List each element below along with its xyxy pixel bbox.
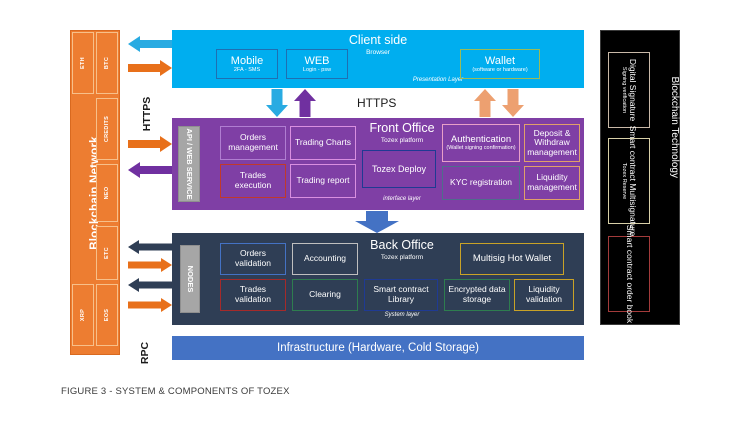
card-smart-contract-multisignature-label: Smart contract Multisignature — [627, 126, 637, 237]
tile-kyc-registration[interactable]: KYC registration — [442, 166, 520, 200]
tile-encrypted-data-storage[interactable]: Encrypted data storage — [444, 279, 510, 311]
tile-trades-validation[interactable]: Trades validation — [220, 279, 286, 311]
tile-multisig-hot-wallet-label: Multisig Hot Wallet — [473, 254, 551, 265]
tile-deposit-withdraw-management-label: Deposit & Withdraw management — [526, 129, 578, 158]
arrow-front-office-to-network-left — [128, 162, 172, 178]
front-office-panel: Front Office Tozex platform interface la… — [172, 118, 584, 210]
rpc-label: RPC — [139, 342, 151, 364]
client-side-panel: Client side Browser Presentation Layer M… — [172, 30, 584, 88]
tile-orders-validation-label: Orders validation — [222, 249, 284, 268]
tile-wallet-label: Wallet — [472, 55, 527, 67]
chain-chip-btc[interactable]: BTC — [96, 32, 118, 94]
arrow-client-to-wallet-down — [502, 89, 524, 117]
chain-chip-eos-label: EOS — [104, 309, 110, 322]
card-smart-contract-multisignature[interactable]: Smart contract Multisignature Tozex Rese… — [608, 138, 650, 224]
chain-chip-neo[interactable]: NEO — [96, 164, 118, 222]
tile-trades-validation-label: Trades validation — [222, 285, 284, 304]
tile-wallet[interactable]: Wallet (software or hardware) — [460, 49, 540, 79]
tile-trades-execution[interactable]: Trades execution — [220, 164, 286, 198]
chain-chip-eth[interactable]: ETH — [72, 32, 94, 94]
tile-orders-management[interactable]: Orders management — [220, 126, 286, 160]
chain-chip-neo-label: NEO — [104, 187, 110, 200]
tile-authentication-label: Authentication — [446, 135, 515, 146]
arrow-network-to-front-office-right — [128, 136, 172, 152]
chain-chip-etc-label: ETC — [104, 247, 110, 259]
arrow-back-office-to-network-left-2 — [128, 278, 172, 292]
tile-smart-contract-library[interactable]: Smart contract Library — [364, 279, 438, 311]
https-middle-label: HTTPS — [357, 96, 396, 110]
arrow-front-office-to-client-up — [294, 89, 316, 117]
arrow-front-to-back-office-down — [355, 211, 399, 233]
card-smart-contract-order-book-label: Smart contract order book — [624, 225, 634, 323]
tile-mobile-label: Mobile — [231, 55, 263, 67]
arrow-network-to-back-office-right-1 — [128, 258, 172, 272]
tile-trades-execution-label: Trades execution — [222, 171, 284, 190]
tile-web-sublabel: Login - psw — [303, 67, 331, 73]
tile-trading-charts[interactable]: Trading Charts — [290, 126, 356, 160]
tile-liquidity-management[interactable]: Liquidity management — [524, 166, 580, 200]
tile-encrypted-data-storage-label: Encrypted data storage — [446, 285, 508, 304]
tile-mobile[interactable]: Mobile 2FA - SMS — [216, 49, 278, 79]
arrow-back-office-to-network-left-1 — [128, 240, 172, 254]
arrow-network-from-client-left — [128, 36, 172, 52]
tile-tozex-deploy[interactable]: Tozex Deploy — [362, 150, 436, 188]
infrastructure-bar: Infrastructure (Hardware, Cold Storage) — [172, 336, 584, 360]
tile-trading-charts-label: Trading Charts — [295, 138, 351, 148]
arrow-client-to-front-office-down — [266, 89, 288, 117]
figure-caption: FIGURE 3 - SYSTEM & COMPONENTS OF TOZEX — [61, 386, 290, 397]
arrow-network-to-back-office-right-2 — [128, 298, 172, 312]
tile-orders-management-label: Orders management — [222, 133, 284, 152]
client-side-title: Client side — [172, 33, 584, 47]
blockchain-technology-label: Blockchain Technology — [670, 76, 681, 178]
tile-liquidity-validation-label: Liquidity validation — [516, 285, 572, 304]
https-left-label: HTTPS — [141, 97, 153, 131]
chain-chip-credits[interactable]: CREDITS — [96, 98, 118, 160]
api-web-service-bar[interactable]: API / WEB SERVICE — [178, 126, 200, 202]
tile-multisig-hot-wallet[interactable]: Multisig Hot Wallet — [460, 243, 564, 275]
back-office-panel: Back Office Tozex platform System layer … — [172, 233, 584, 325]
arrow-network-to-client-right — [128, 60, 172, 76]
chain-chip-etc[interactable]: ETC — [96, 226, 118, 280]
arrow-wallet-to-client-up — [474, 89, 496, 117]
tile-smart-contract-library-label: Smart contract Library — [366, 285, 436, 304]
tile-tozex-deploy-label: Tozex Deploy — [372, 164, 426, 174]
chain-chip-eth-label: ETH — [80, 57, 86, 69]
tile-web-label: WEB — [303, 55, 331, 67]
tile-clearing-label: Clearing — [309, 290, 341, 300]
tile-mobile-sublabel: 2FA - SMS — [231, 67, 263, 73]
tile-orders-validation[interactable]: Orders validation — [220, 243, 286, 275]
chain-chip-btc-label: BTC — [104, 57, 110, 69]
tile-liquidity-management-label: Liquidity management — [526, 173, 578, 192]
infrastructure-label: Infrastructure (Hardware, Cold Storage) — [172, 342, 584, 354]
tile-deposit-withdraw-management[interactable]: Deposit & Withdraw management — [524, 124, 580, 162]
chain-chip-credits-label: CREDITS — [104, 116, 110, 142]
tile-authentication[interactable]: Authentication (Wallet signing confirmat… — [442, 124, 520, 162]
tile-web[interactable]: WEB Login - psw — [286, 49, 348, 79]
nodes-service-label: NODES — [186, 266, 194, 293]
card-digital-signature[interactable]: Digital Signature Signing verification — [608, 52, 650, 128]
chain-chip-xrp[interactable]: XRP — [72, 284, 94, 346]
tile-trading-report[interactable]: Trading report — [290, 164, 356, 198]
diagram-canvas: Blockchain Network ETH BTC CREDITS NEO E… — [0, 0, 732, 421]
api-web-service-label: API / WEB SERVICE — [185, 128, 193, 199]
chain-chip-eos[interactable]: EOS — [96, 284, 118, 346]
card-digital-signature-sublabel: Signing verification — [621, 59, 627, 121]
card-digital-signature-label: Digital Signature — [627, 59, 637, 121]
nodes-service-bar[interactable]: NODES — [180, 245, 200, 313]
back-office-layer-label: System layer — [322, 312, 482, 318]
tile-liquidity-validation[interactable]: Liquidity validation — [514, 279, 574, 311]
chain-chip-xrp-label: XRP — [80, 309, 86, 321]
tile-wallet-sublabel: (software or hardware) — [472, 67, 527, 73]
tile-accounting-label: Accounting — [304, 254, 346, 264]
tile-kyc-registration-label: KYC registration — [450, 178, 512, 188]
tile-accounting[interactable]: Accounting — [292, 243, 358, 275]
tile-trading-report-label: Trading report — [296, 176, 349, 186]
card-smart-contract-order-book[interactable]: Smart contract order book — [608, 236, 650, 312]
tile-clearing[interactable]: Clearing — [292, 279, 358, 311]
tile-authentication-sublabel: (Wallet signing confirmation) — [446, 145, 515, 151]
